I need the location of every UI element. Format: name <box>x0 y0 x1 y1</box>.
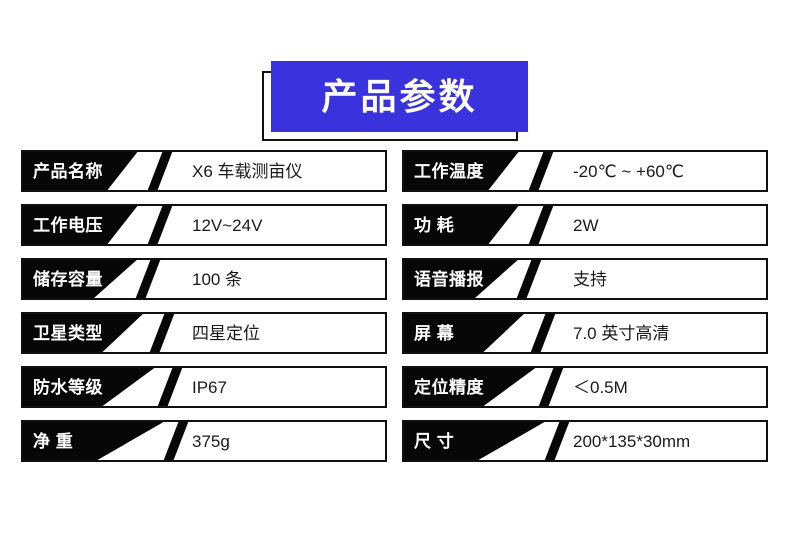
table-row: 卫星类型 四星定位 <box>21 312 387 354</box>
slash-divider-icon <box>538 366 564 408</box>
table-row: 功 耗 2W <box>402 204 768 246</box>
spec-label-tag: 工作电压 <box>21 204 139 246</box>
spec-label: 防水等级 <box>33 379 103 396</box>
spec-label-tag: 防水等级 <box>21 366 157 408</box>
table-row: 语音播报 支持 <box>402 258 768 300</box>
table-row: 净 重 375g <box>21 420 387 462</box>
spec-value: ＜0.5M <box>573 368 628 406</box>
slash-divider-icon <box>147 150 173 192</box>
spec-label: 屏 幕 <box>414 325 454 342</box>
spec-label: 净 重 <box>33 433 73 450</box>
slash-divider-icon <box>147 204 173 246</box>
slash-divider-icon <box>135 258 161 300</box>
slash-divider-icon <box>530 312 556 354</box>
table-row: 屏 幕 7.0 英寸高清 <box>402 312 768 354</box>
spec-label-tag: 卫星类型 <box>21 312 145 354</box>
spec-label-tag: 净 重 <box>21 420 167 462</box>
spec-label: 语音播报 <box>414 271 484 288</box>
page-title: 产品参数 <box>321 79 477 115</box>
table-row: 防水等级 IP67 <box>21 366 387 408</box>
spec-value: X6 车载测亩仪 <box>192 152 303 190</box>
table-row: 产品名称 X6 车载测亩仪 <box>21 150 387 192</box>
spec-label-tag: 定位精度 <box>402 366 538 408</box>
spec-label-tag: 产品名称 <box>21 150 139 192</box>
spec-table: 产品名称 X6 车载测亩仪 工作电压 12V~24V 储存容量 100 条 卫星… <box>0 150 790 552</box>
spec-column-right: 工作温度 -20℃ ~ +60℃ 功 耗 2W 语音播报 支持 屏 幕 7.0 <box>402 150 768 474</box>
spec-value: 12V~24V <box>192 206 262 244</box>
slash-divider-icon <box>528 150 554 192</box>
spec-label-tag: 储存容量 <box>21 258 139 300</box>
spec-label-tag: 尺 寸 <box>402 420 548 462</box>
spec-value: 2W <box>573 206 599 244</box>
spec-label: 尺 寸 <box>414 433 454 450</box>
spec-label-tag: 屏 幕 <box>402 312 526 354</box>
spec-label: 功 耗 <box>414 217 454 234</box>
spec-label: 工作温度 <box>414 163 484 180</box>
slash-divider-icon <box>516 258 542 300</box>
spec-value: 100 条 <box>192 260 242 298</box>
spec-value: 200*135*30mm <box>573 422 690 460</box>
table-row: 储存容量 100 条 <box>21 258 387 300</box>
spec-value: 四星定位 <box>192 314 260 352</box>
table-row: 工作电压 12V~24V <box>21 204 387 246</box>
spec-value: 支持 <box>573 260 607 298</box>
spec-label-tag: 工作温度 <box>402 150 520 192</box>
slash-divider-icon <box>528 204 554 246</box>
slash-divider-icon <box>157 366 183 408</box>
spec-label: 工作电压 <box>33 217 103 234</box>
spec-column-left: 产品名称 X6 车载测亩仪 工作电压 12V~24V 储存容量 100 条 卫星… <box>21 150 387 474</box>
spec-label: 定位精度 <box>414 379 484 396</box>
spec-label-tag: 功 耗 <box>402 204 520 246</box>
table-row: 尺 寸 200*135*30mm <box>402 420 768 462</box>
spec-label-tag: 语音播报 <box>402 258 520 300</box>
slash-divider-icon <box>544 420 570 462</box>
spec-value: -20℃ ~ +60℃ <box>573 152 684 190</box>
spec-value: 7.0 英寸高清 <box>573 314 669 352</box>
slash-divider-icon <box>149 312 175 354</box>
page-title-block: 产品参数 <box>0 0 790 150</box>
table-row: 定位精度 ＜0.5M <box>402 366 768 408</box>
slash-divider-icon <box>163 420 189 462</box>
spec-label: 卫星类型 <box>33 325 103 342</box>
table-row: 工作温度 -20℃ ~ +60℃ <box>402 150 768 192</box>
spec-value: 375g <box>192 422 230 460</box>
spec-value: IP67 <box>192 368 227 406</box>
title-banner: 产品参数 <box>271 61 528 132</box>
spec-label: 储存容量 <box>33 271 103 288</box>
spec-label: 产品名称 <box>33 163 103 180</box>
